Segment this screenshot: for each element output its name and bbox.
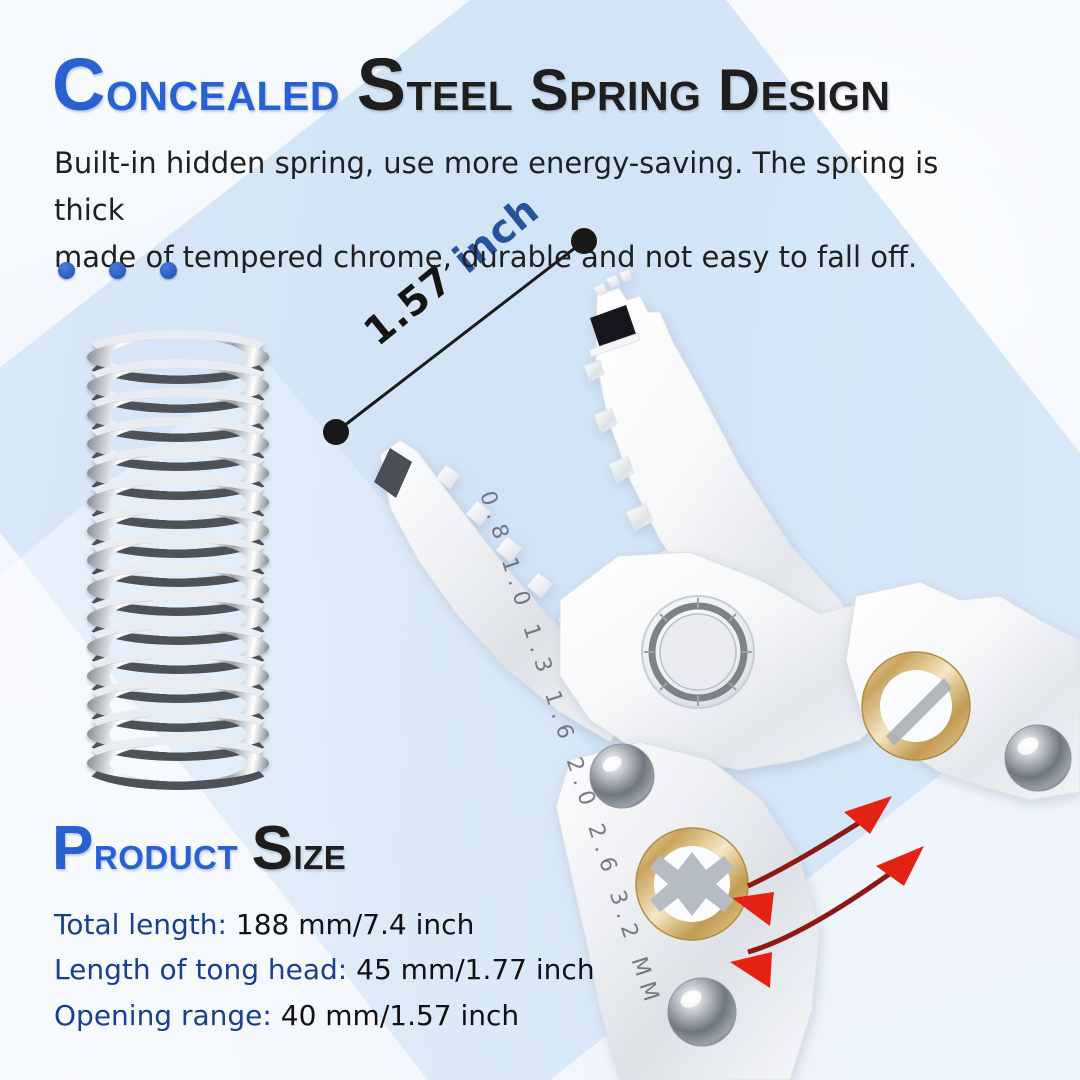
spec-value: 40 mm/1.57 inch: [281, 999, 519, 1032]
size-word-size: ize: [293, 826, 346, 879]
coil-spring-image: [78, 330, 288, 780]
ball-rivet-right: [1005, 725, 1071, 791]
infographic-canvas: 0.8 1.0 1.3 1.6 2.0 2.6 3.2 MM 1.57 inch…: [0, 0, 1080, 1080]
spec-row-total-length: Total length: 188 mm/7.4 inch: [54, 902, 595, 947]
brass-ring-cross: [636, 828, 748, 940]
dot-2: [109, 262, 126, 279]
brass-ring-slotted: [862, 652, 970, 760]
description-paragraph: Built-in hidden spring, use more energy-…: [54, 140, 1014, 281]
decorative-dots: [58, 262, 177, 279]
spec-row-tong-head: Length of tong head: 45 mm/1.77 inch: [54, 947, 595, 992]
ball-rivet-bottom: [668, 978, 736, 1046]
size-word-product: roduct: [94, 826, 238, 879]
spec-row-opening-range: Opening range: 40 mm/1.57 inch: [54, 993, 595, 1038]
title-initial-c: C: [52, 43, 106, 126]
dot-1: [58, 262, 75, 279]
title-initial-s: S: [357, 43, 407, 126]
size-initial-p: P: [52, 814, 94, 883]
pivot-ring: [642, 596, 754, 708]
product-specs-list: Total length: 188 mm/7.4 inch Length of …: [54, 902, 595, 1038]
size-initial-s: S: [252, 814, 294, 883]
title-word-concealed: oncealed: [106, 58, 340, 123]
title-rest: teel Spring Design: [407, 58, 891, 123]
spec-value: 45 mm/1.77 inch: [356, 953, 594, 986]
product-size-heading: Product Size: [52, 818, 346, 880]
description-line-1: Built-in hidden spring, use more energy-…: [54, 140, 1014, 234]
spec-value: 188 mm/7.4 inch: [236, 908, 474, 941]
spring-coil: [78, 736, 278, 790]
dot-3: [160, 262, 177, 279]
description-line-2: made of tempered chrome, durable and not…: [54, 234, 1014, 281]
spec-label: Length of tong head:: [54, 953, 347, 986]
spec-label: Total length:: [54, 908, 227, 941]
spec-label: Opening range:: [54, 999, 272, 1032]
page-title: Concealed Steel Spring Design: [52, 48, 891, 122]
ball-rivet-center: [590, 744, 654, 808]
